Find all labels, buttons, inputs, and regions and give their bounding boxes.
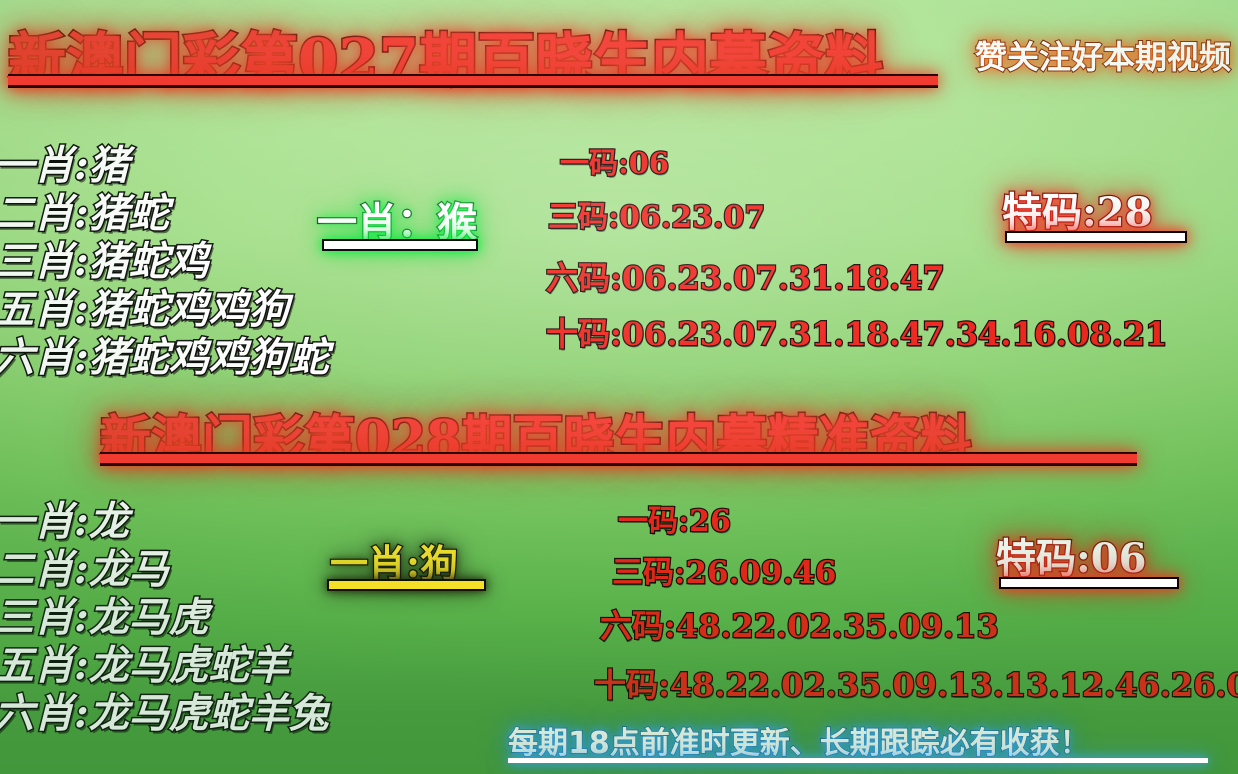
code-row-027-6: 六码:06.23.07.31.18.47 — [546, 253, 945, 299]
section-title-027-underline — [8, 74, 938, 88]
section-title-028-underline — [100, 452, 1137, 466]
special-code-027-underline — [1005, 231, 1187, 243]
code-row-028-1: 一码:26 — [618, 496, 731, 540]
code-row-027-3: 三码:06.23.07 — [548, 192, 765, 236]
code-row-027-10: 十码:06.23.07.31.18.47.34.16.08.21 — [546, 309, 1167, 355]
code-row-028-6: 六码:48.22.02.35.09.13 — [600, 601, 999, 647]
special-code-028: 特码:06 — [996, 526, 1146, 584]
footer-banner-underline — [508, 758, 1208, 763]
badge-one-zodiac-027-underline — [322, 239, 478, 251]
special-code-028-underline — [999, 577, 1179, 589]
poster-canvas: 新澳门彩第027期百晓生内幕资料 赞关注好本期视频 一肖:猪 二肖:猪蛇 三肖:… — [0, 0, 1238, 774]
zodiac-row-027-6: 六肖:猪蛇鸡鸡狗蛇 — [0, 325, 329, 383]
code-row-028-10: 十码:48.22.02.35.09.13.13.12.46.26.03 — [594, 660, 1238, 706]
footer-banner-text: 每期18点前准时更新、长期跟踪必有收获！ — [508, 718, 1090, 762]
promo-text: 赞关注好本期视频 — [975, 32, 1231, 78]
special-code-027: 特码:28 — [1002, 180, 1152, 238]
code-row-028-3: 三码:26.09.46 — [612, 547, 836, 592]
code-row-027-1: 一码:06 — [560, 140, 669, 182]
zodiac-row-028-6: 六肖:龙马虎蛇羊兔 — [0, 681, 329, 739]
badge-one-zodiac-028-underline — [327, 579, 486, 591]
